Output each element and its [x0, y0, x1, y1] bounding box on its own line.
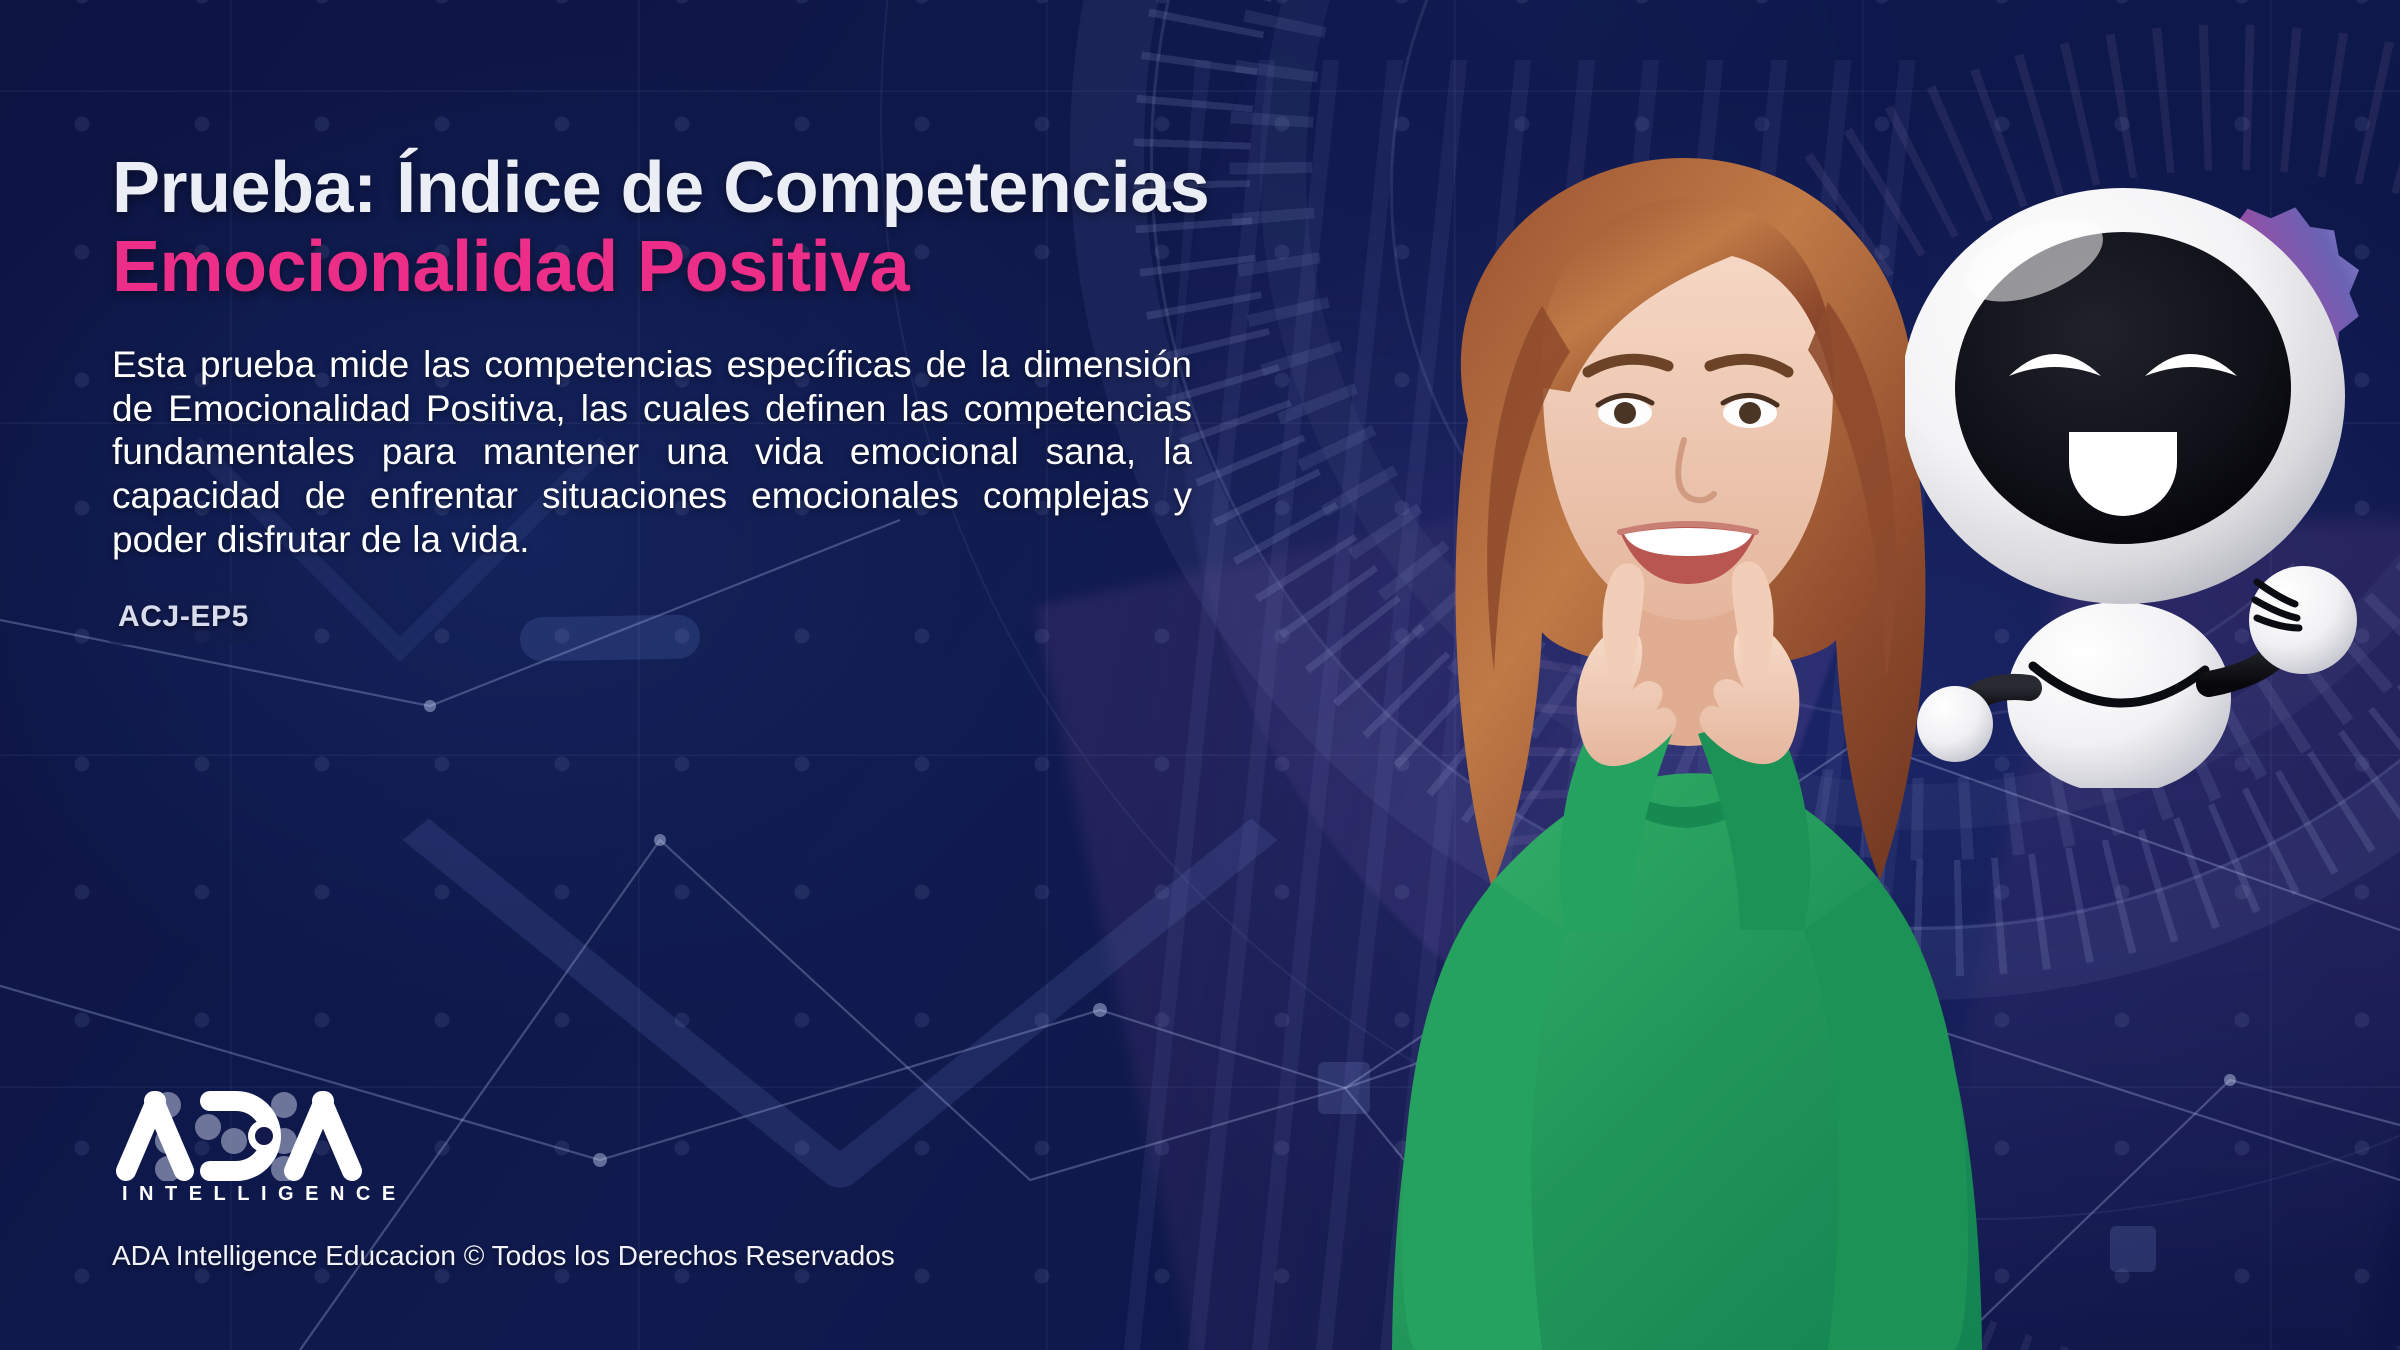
- ada-logo-icon: [112, 1085, 362, 1181]
- description-paragraph: Esta prueba mide las competencias especí…: [112, 343, 1192, 561]
- copyright-text: ADA Intelligence Educacion © Todos los D…: [112, 1240, 895, 1272]
- robot-body: [2007, 602, 2231, 788]
- hero-content: Prueba: Índice de Competencias Emocional…: [112, 0, 1232, 1350]
- status-badge: ACJ-EP5: [96, 591, 271, 645]
- promo-slide: Prueba: Índice de Competencias Emocional…: [0, 0, 2400, 1350]
- title-line-2: Competencias: [723, 148, 1209, 228]
- logo-wordmark: INTELLIGENCE: [122, 1183, 532, 1206]
- node-square: [2110, 1226, 2156, 1272]
- robot-hand-left: [1917, 686, 1993, 762]
- title-line-1: Prueba: Índice de: [112, 148, 704, 228]
- brand-logo: INTELLIGENCE: [112, 1085, 532, 1206]
- page-title: Prueba: Índice de Competencias Emocional…: [112, 152, 1232, 305]
- robot-mascot: [1905, 168, 2385, 788]
- title-accent-line: Emocionalidad Positiva: [112, 231, 1232, 304]
